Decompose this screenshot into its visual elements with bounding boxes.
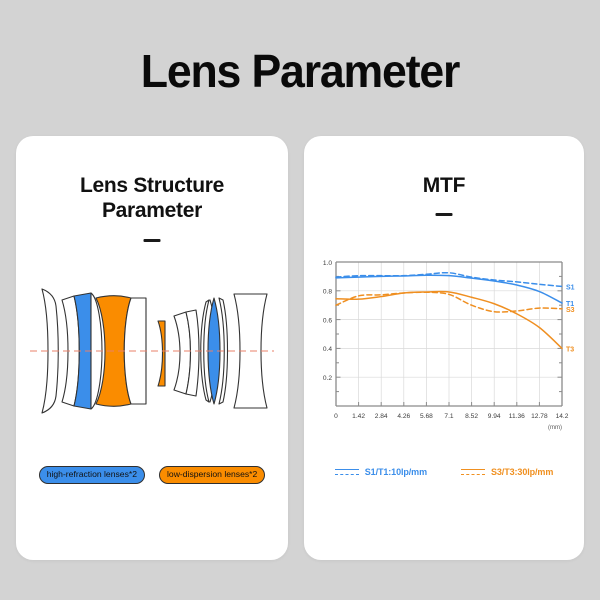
legend-item-s1t1: S1/T1:10lp/mm (335, 466, 427, 477)
x-tick-label: 14.2 (556, 413, 569, 420)
lens-structure-title-line1: Lens Structure (16, 174, 288, 199)
legend-label-s3t3: S3/T3:30lp/mm (491, 467, 553, 477)
x-tick-label: 5.68 (420, 413, 433, 420)
mtf-chart-legend: S1/T1:10lp/mm S3/T3:30lp/mm (304, 466, 584, 477)
lens-cross-section-svg (28, 276, 276, 426)
x-tick-label: 4.26 (397, 413, 410, 420)
title-divider-dash (144, 239, 161, 242)
x-tick-label: 9.94 (488, 413, 501, 420)
series-end-label-s1: S1 (566, 284, 575, 291)
mtf-title-divider-dash (436, 213, 453, 216)
x-tick-label: 8.52 (465, 413, 478, 420)
legend-item-s3t3: S3/T3:30lp/mm (461, 466, 553, 477)
y-tick-label: 0.4 (323, 346, 332, 353)
page-root: Lens Parameter Lens Structure Parameter (0, 0, 600, 600)
x-tick-label: 1.42 (352, 413, 365, 420)
lens-element-6 (158, 321, 165, 386)
y-tick-label: 1.0 (323, 260, 332, 267)
series-end-label-t3: T3 (566, 346, 574, 353)
x-tick-label: 2.84 (375, 413, 388, 420)
legend-pill-high-refraction: high-refraction lenses*2 (39, 466, 145, 484)
y-tick-label: 0.8 (323, 289, 332, 296)
x-tick-label: 7.1 (444, 413, 453, 420)
lens-diagram (28, 276, 276, 426)
x-tick-label: 0 (334, 413, 338, 420)
lens-type-legend: high-refraction lenses*2 low-dispersion … (16, 466, 288, 484)
mtf-chart: 0.20.40.60.81.001.422.844.265.687.18.529… (310, 254, 578, 444)
mtf-card: MTF 0.20.40.60.81.001.422.844.265.687.18… (304, 136, 584, 560)
y-tick-label: 0.6 (323, 317, 332, 324)
legend-swatch-s3t3 (461, 466, 485, 477)
lens-structure-title-line2: Parameter (16, 199, 288, 224)
mtf-chart-svg: 0.20.40.60.81.001.422.844.265.687.18.529… (310, 254, 578, 444)
lens-structure-title: Lens Structure Parameter (16, 174, 288, 224)
page-title: Lens Parameter (9, 44, 591, 98)
x-axis-unit-label: (mm) (548, 425, 562, 431)
series-end-label-s3: S3 (566, 307, 575, 314)
x-tick-label: 11.36 (509, 413, 525, 420)
x-tick-label: 12.78 (531, 413, 548, 420)
mtf-title: MTF (304, 174, 584, 199)
y-tick-label: 0.2 (323, 375, 332, 382)
lens-structure-card: Lens Structure Parameter (16, 136, 288, 560)
legend-pill-low-dispersion: low-dispersion lenses*2 (159, 466, 265, 484)
legend-label-s1t1: S1/T1:10lp/mm (365, 467, 427, 477)
legend-swatch-s1t1 (335, 466, 359, 477)
